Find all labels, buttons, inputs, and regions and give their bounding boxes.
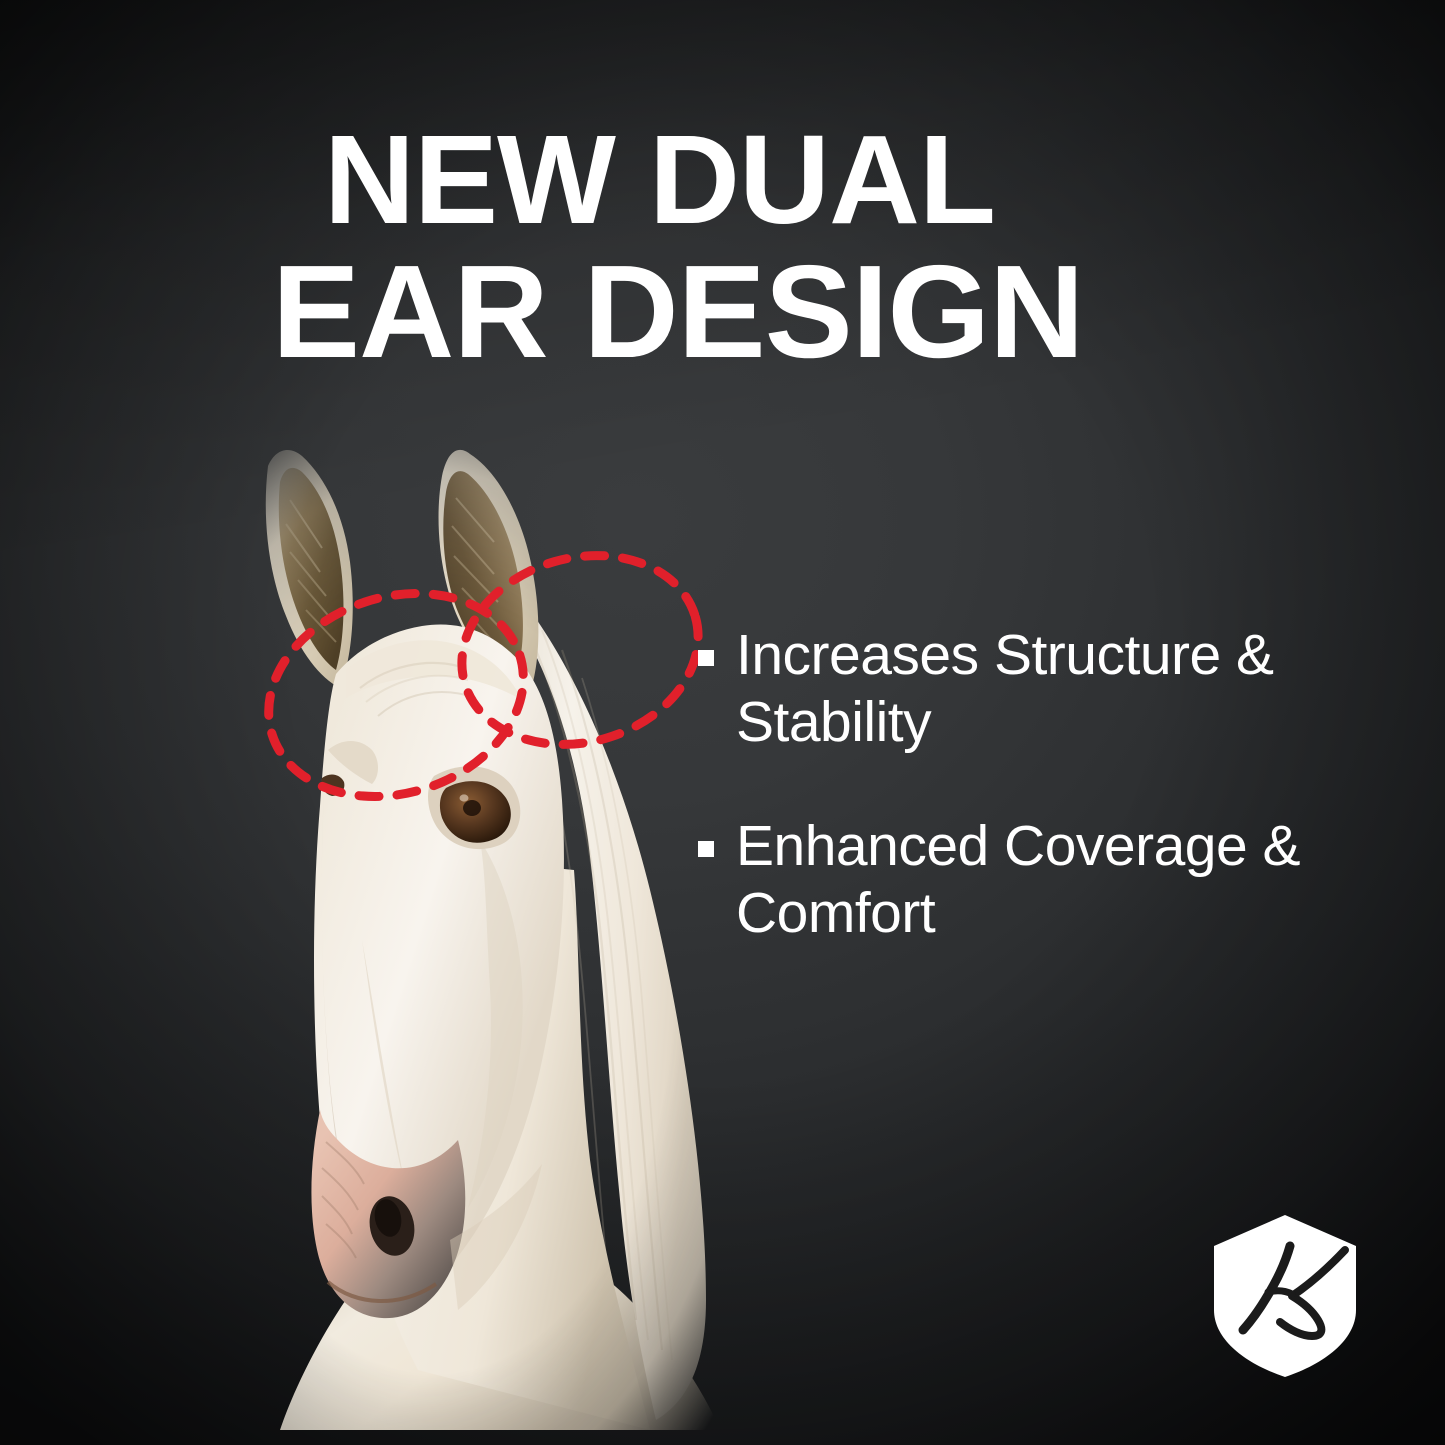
bullet-label: Enhanced Coverage & Comfort bbox=[736, 813, 1358, 948]
headline-line-2: EAR DESIGN bbox=[272, 247, 1192, 376]
list-item: Enhanced Coverage & Comfort bbox=[698, 813, 1358, 948]
bullet-label: Increases Structure & Stability bbox=[736, 622, 1358, 757]
shield-icon bbox=[1214, 1215, 1356, 1377]
square-bullet-icon bbox=[698, 650, 714, 666]
brand-logo bbox=[1206, 1212, 1364, 1380]
headline-line-1: NEW DUAL bbox=[272, 118, 1192, 241]
poster-canvas: NEW DUAL EAR DESIGN Increases Structure … bbox=[0, 0, 1445, 1445]
feature-bullet-list: Increases Structure & Stability Enhanced… bbox=[698, 622, 1358, 1003]
square-bullet-icon bbox=[698, 841, 714, 857]
list-item: Increases Structure & Stability bbox=[698, 622, 1358, 757]
horse-artwork bbox=[150, 420, 770, 1430]
headline-block: NEW DUAL EAR DESIGN bbox=[272, 118, 1192, 377]
